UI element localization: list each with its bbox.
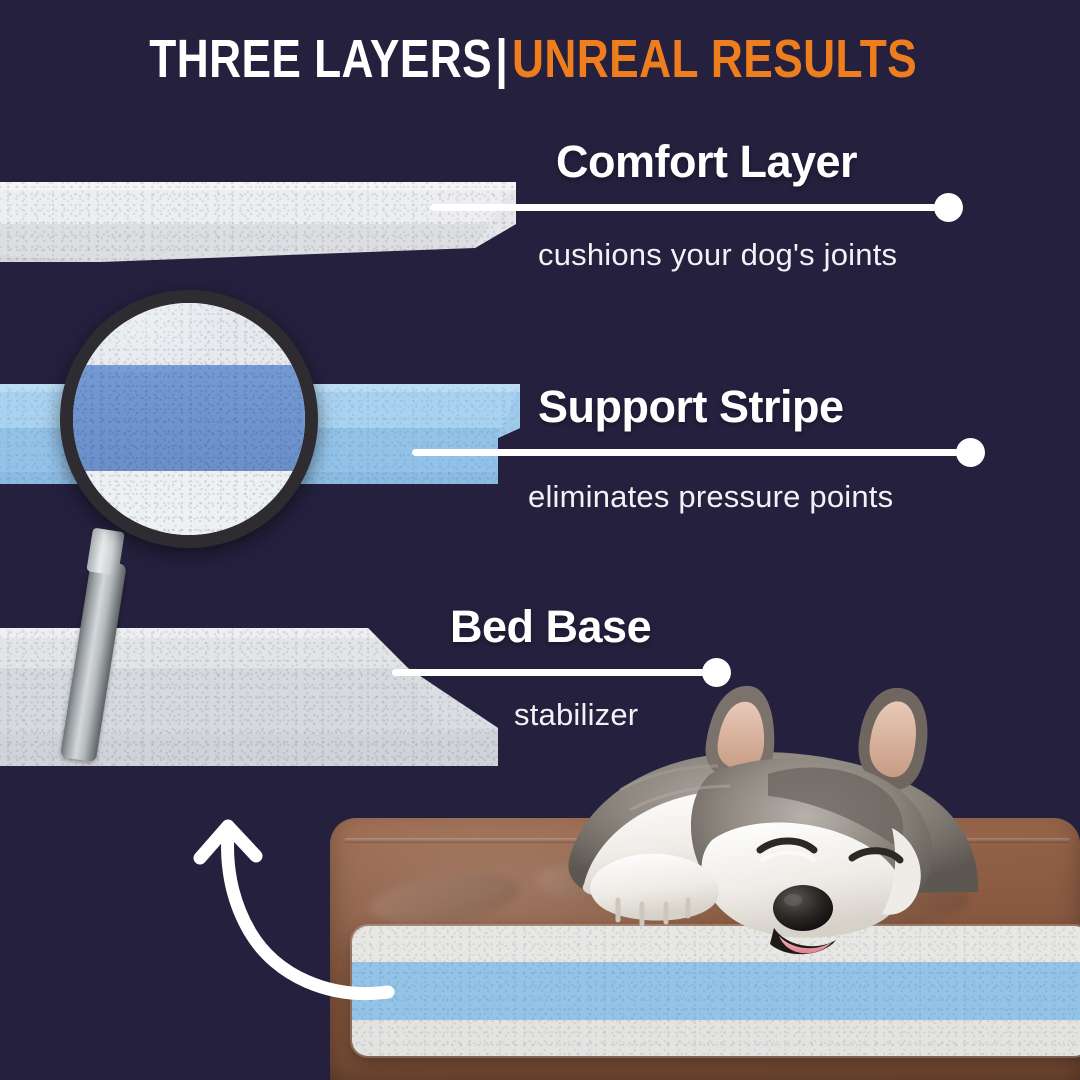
- layer-title-base: Bed Base: [450, 604, 651, 649]
- label-comfort-layer: Comfort Layer cushions your dog's joints: [556, 139, 897, 270]
- connector-dot-support-stripe: [956, 438, 985, 467]
- dog-illustration: [560, 670, 1080, 970]
- layer-title-comfort: Comfort Layer: [556, 139, 897, 184]
- title-separator: |: [494, 32, 510, 86]
- magnifier-lens: [73, 303, 305, 535]
- title-orange-part: UNREAL RESULTS: [512, 32, 917, 86]
- infographic-canvas: THREE LAYERS|UNREAL RESULTS Comfort Laye…: [0, 0, 1080, 1080]
- connector-dot-comfort-layer: [934, 193, 963, 222]
- layer-subtitle-support: eliminates pressure points: [528, 481, 893, 512]
- magnifier-handle: [60, 559, 127, 762]
- curved-up-arrow-icon: [180, 800, 400, 1020]
- dog-on-bed-photo: [330, 690, 1080, 1080]
- title-white-part: THREE LAYERS: [149, 32, 492, 86]
- magnifying-glass-icon: [60, 290, 360, 770]
- layer-subtitle-comfort: cushions your dog's joints: [538, 239, 897, 270]
- foam-slab-comfort-layer: [0, 176, 525, 276]
- page-title: THREE LAYERS|UNREAL RESULTS: [0, 32, 1080, 86]
- layer-title-support: Support Stripe: [538, 384, 893, 429]
- label-support-stripe: Support Stripe eliminates pressure point…: [538, 384, 893, 512]
